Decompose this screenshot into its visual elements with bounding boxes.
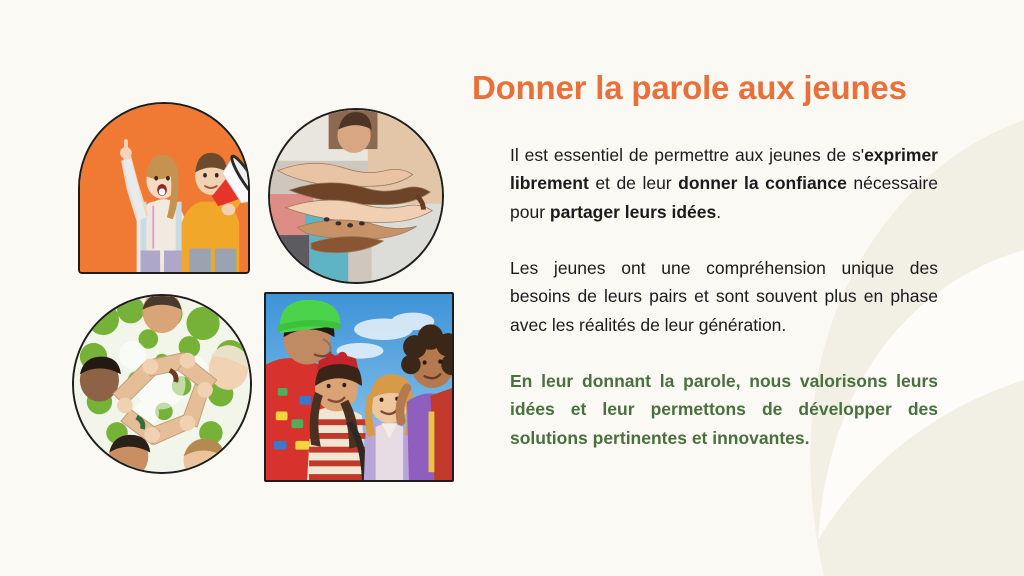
body-copy: Il est essentiel de permettre aux jeunes… (472, 141, 938, 452)
paragraph-2: Les jeunes ont une compréhension unique … (510, 254, 938, 339)
photo-couple-megaphone (78, 102, 250, 274)
photo-four-friends-sky (264, 292, 454, 482)
paragraph-1: Il est essentiel de permettre aux jeunes… (510, 141, 938, 226)
photo-hands-stacked (268, 108, 444, 284)
slide-canvas: Donner la parole aux jeunes Il est essen… (0, 0, 1024, 576)
text-column: Donner la parole aux jeunes Il est essen… (472, 70, 978, 452)
paragraph-3-highlight: En leur donnant la parole, nous valoriso… (510, 367, 938, 452)
page-title: Donner la parole aux jeunes (472, 70, 978, 107)
image-collage (72, 102, 454, 484)
photo-circle-from-below (72, 294, 252, 474)
